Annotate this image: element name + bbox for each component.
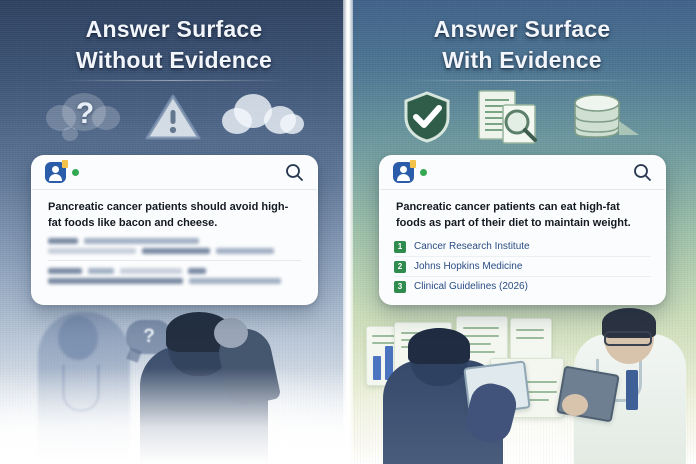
citation-item[interactable]: 3Clinical Guidelines (2026) xyxy=(394,277,651,296)
document-magnifier-icon xyxy=(473,89,547,145)
blurred-divider xyxy=(48,260,301,261)
blurred-line xyxy=(48,238,301,244)
left-title-line1: Answer Surface xyxy=(86,16,263,42)
panel-divider xyxy=(343,0,353,464)
right-panel-title: Answer Surface With Evidence xyxy=(348,14,696,76)
citation-label[interactable]: Johns Hopkins Medicine xyxy=(414,261,522,272)
answer-text: Pancreatic cancer patients should avoid … xyxy=(48,199,301,231)
blurred-line xyxy=(48,248,301,254)
left-panel-title: Answer Surface Without Evidence xyxy=(0,14,348,76)
user-avatar-icon xyxy=(45,162,66,183)
right-hero-icon-strip xyxy=(348,86,696,148)
card-body: Pancreatic cancer patients can eat high-… xyxy=(380,190,665,231)
citation-number-badge: 3 xyxy=(394,281,406,293)
answer-card-without-evidence[interactable]: Pancreatic cancer patients should avoid … xyxy=(31,155,318,305)
citation-list: 1Cancer Research Institute2Johns Hopkins… xyxy=(380,231,665,296)
question-cloud-icon: ? xyxy=(46,91,124,143)
warning-triangle-icon xyxy=(144,92,202,142)
left-scene: ? xyxy=(0,289,348,464)
comparison-figure: Answer Surface Without Evidence ? xyxy=(0,0,696,464)
right-title-divider xyxy=(404,80,641,81)
citation-label[interactable]: Cancer Research Institute xyxy=(414,241,530,252)
answer-text: Pancreatic cancer patients can eat high-… xyxy=(396,199,649,231)
blurred-line xyxy=(48,278,301,284)
left-title-line2: Without Evidence xyxy=(0,45,348,76)
citation-item[interactable]: 2Johns Hopkins Medicine xyxy=(394,257,651,277)
blurred-line xyxy=(48,268,301,274)
right-title-line2: With Evidence xyxy=(348,45,696,76)
citation-item[interactable]: 1Cancer Research Institute xyxy=(394,237,651,257)
search-icon[interactable] xyxy=(633,163,652,182)
patient-hair xyxy=(408,328,470,364)
online-status-dot xyxy=(420,169,427,176)
doctor-tie xyxy=(626,370,638,410)
confused-patient-hand xyxy=(214,318,248,348)
citation-number-badge: 2 xyxy=(394,261,406,273)
blurred-evidence-region xyxy=(32,231,317,284)
ghost-doctor-head xyxy=(58,316,98,360)
mist-overlay xyxy=(0,368,348,464)
card-header xyxy=(380,156,665,190)
right-scene xyxy=(348,289,696,464)
citation-number-badge: 1 xyxy=(394,241,406,253)
doctor-glasses-icon xyxy=(604,331,652,346)
card-body: Pancreatic cancer patients should avoid … xyxy=(32,190,317,231)
doctor-tablet xyxy=(556,366,619,423)
right-title-line1: Answer Surface xyxy=(434,16,611,42)
answer-card-with-evidence[interactable]: Pancreatic cancer patients can eat high-… xyxy=(379,155,666,305)
card-header xyxy=(32,156,317,190)
fog-cloud-icon xyxy=(222,92,302,142)
user-avatar-icon xyxy=(393,162,414,183)
evidence-document xyxy=(510,318,552,360)
left-title-divider xyxy=(56,80,293,81)
doctor-hand xyxy=(562,394,588,416)
online-status-dot xyxy=(72,169,79,176)
citation-label[interactable]: Clinical Guidelines (2026) xyxy=(414,281,528,292)
database-icon xyxy=(567,91,643,143)
left-hero-icon-strip: ? xyxy=(0,86,348,148)
shield-check-icon xyxy=(401,90,453,144)
search-icon[interactable] xyxy=(285,163,304,182)
